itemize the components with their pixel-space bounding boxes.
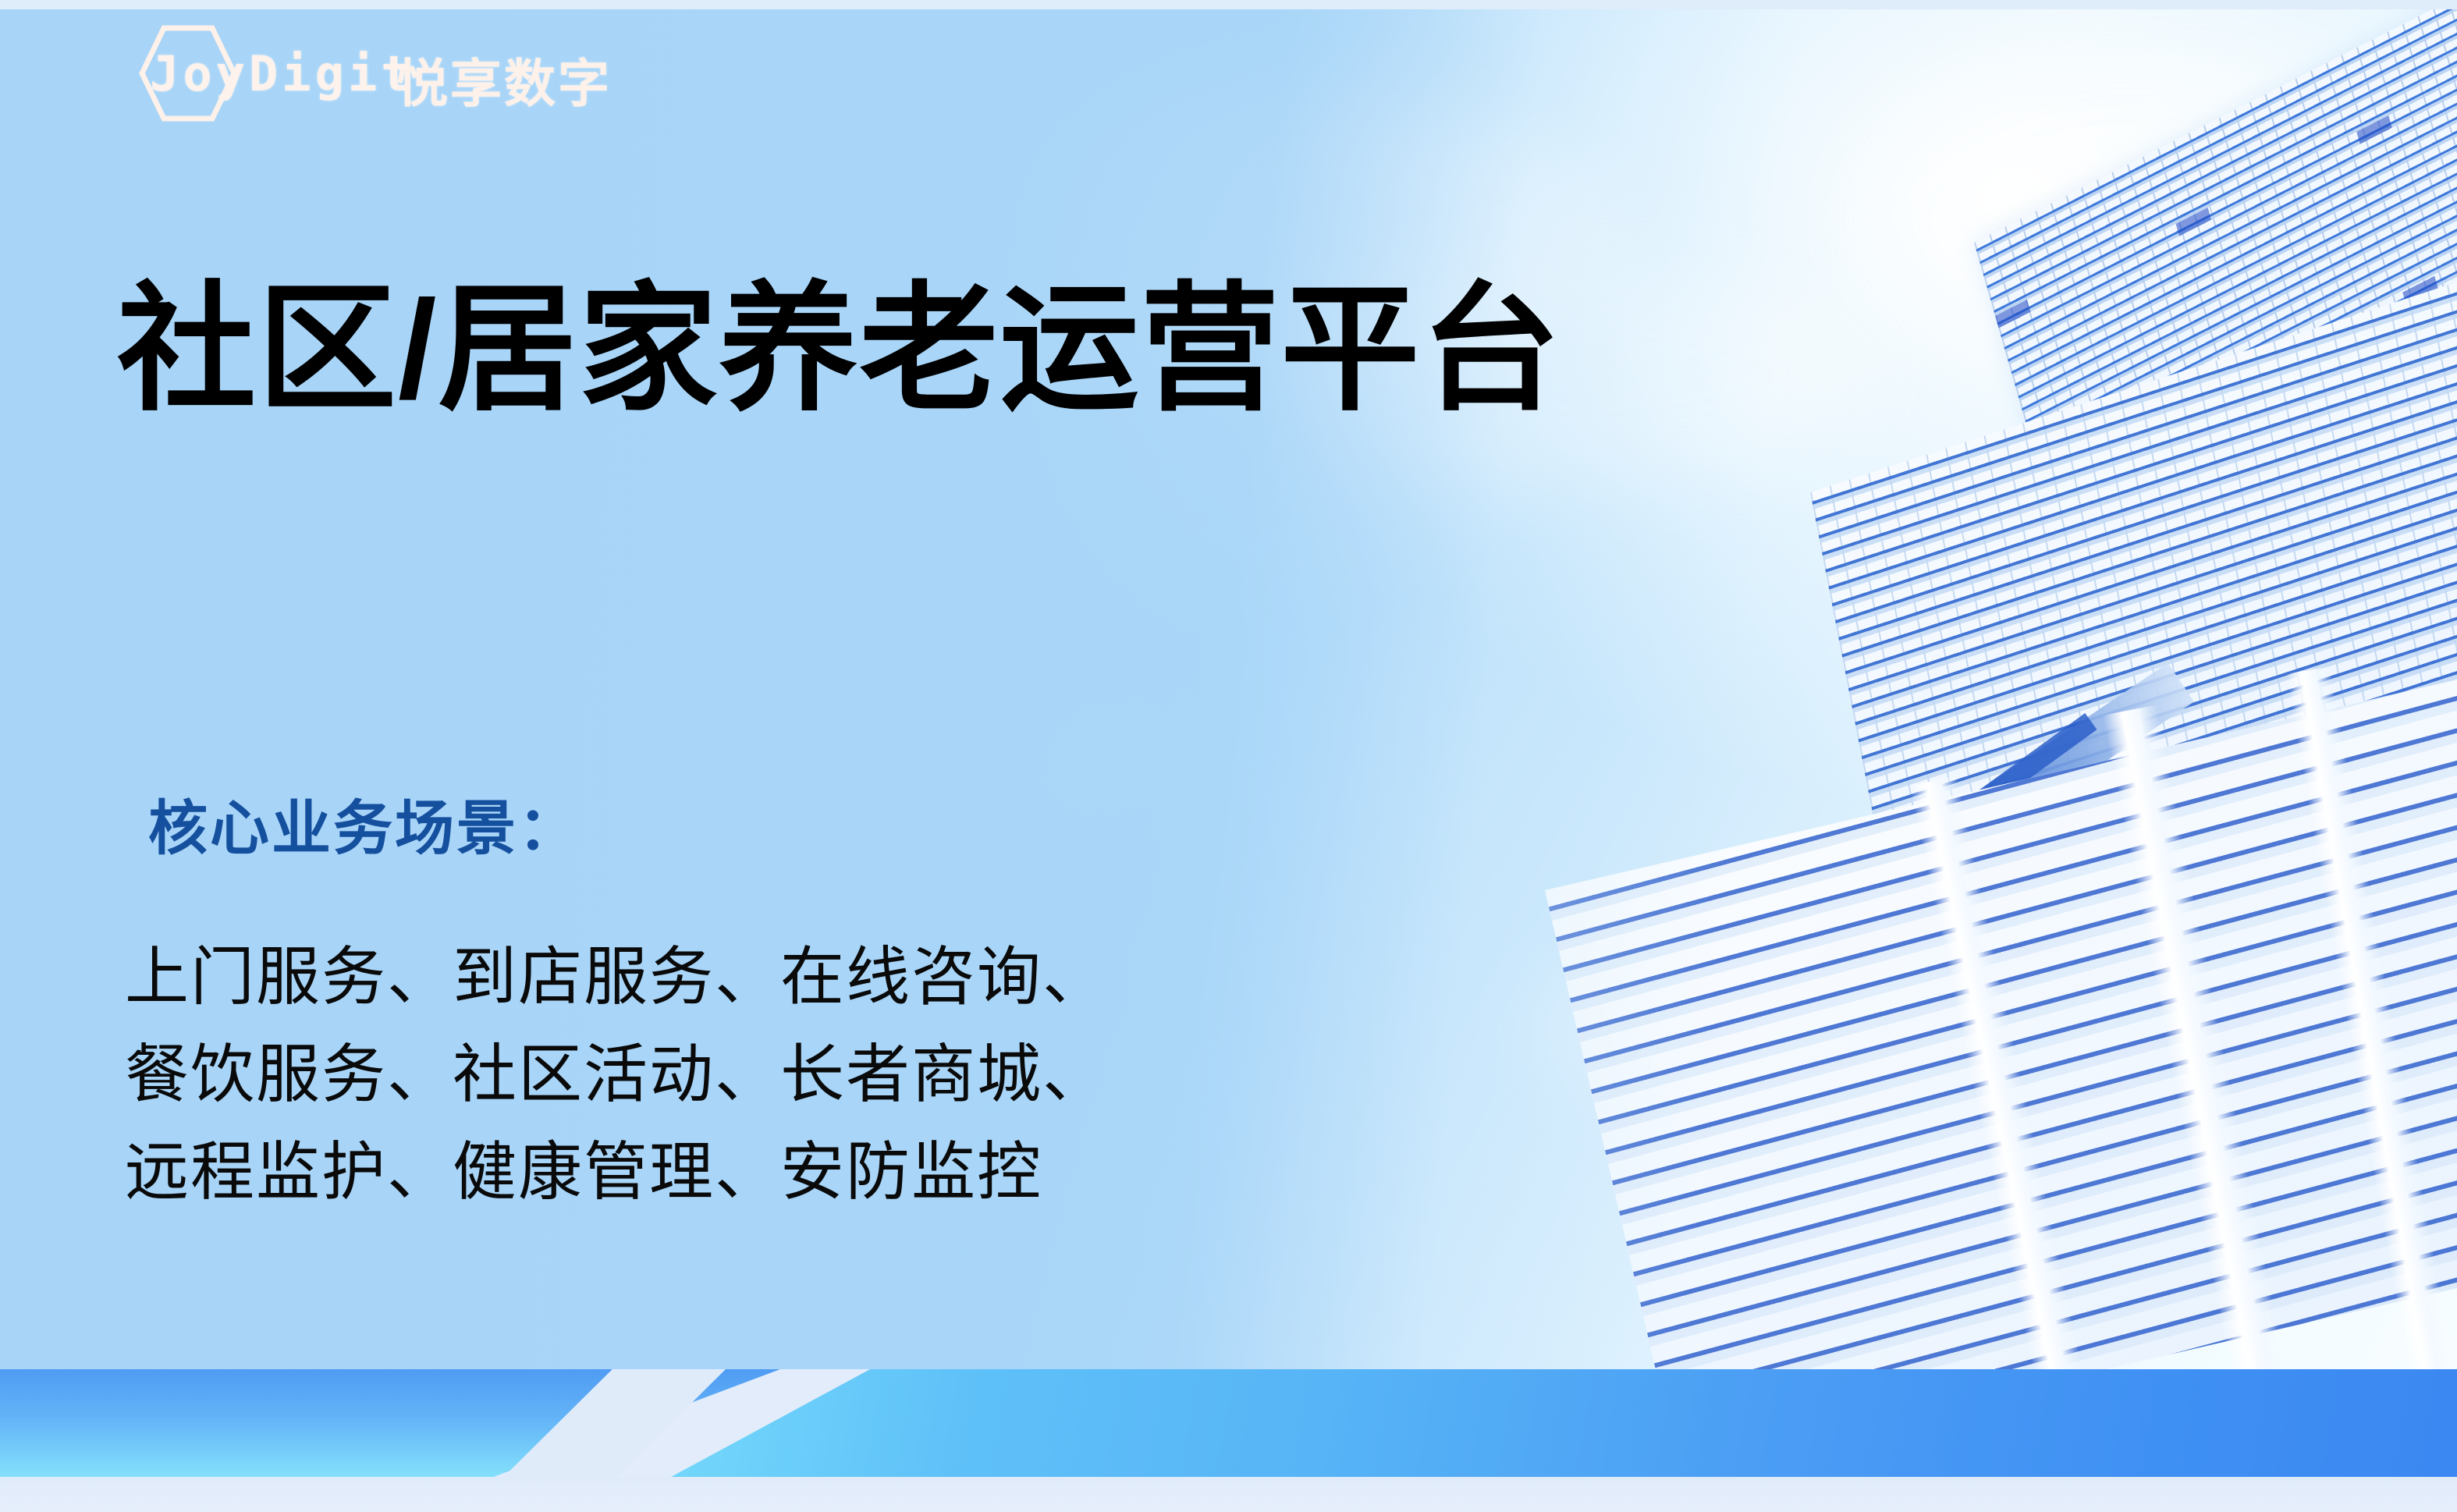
bottom-decoration-band xyxy=(0,1369,2457,1512)
page-title: 社区/居家养老运营平台 xyxy=(117,275,1561,424)
logo-wordmark-chinese: 悦享数字 xyxy=(396,42,612,117)
top-edge-strip xyxy=(0,0,2457,9)
scenario-line: 餐饮服务、社区活动、长者商城、 xyxy=(125,1026,1607,1123)
scenario-line: 上门服务、到店服务、在线咨询、 xyxy=(125,928,1607,1026)
brand-logo: JoyDigit 悦享数字 xyxy=(139,33,638,115)
logo-wordmark-latin: JoyDigit xyxy=(150,45,414,102)
section-heading: 核心业务场景： xyxy=(148,780,580,866)
band-baseline xyxy=(0,1477,2457,1512)
scenario-line: 远程监护、健康管理、安防监控 xyxy=(125,1123,1607,1221)
presentation-slide: JoyDigit 悦享数字 社区/居家养老运营平台 核心业务场景： 上门服务、到… xyxy=(0,0,2457,1512)
cloud-wisp xyxy=(593,648,1155,843)
band-shape-right xyxy=(671,1369,2457,1477)
scenario-list: 上门服务、到店服务、在线咨询、 餐饮服务、社区活动、长者商城、 远程监护、健康管… xyxy=(125,928,1607,1221)
